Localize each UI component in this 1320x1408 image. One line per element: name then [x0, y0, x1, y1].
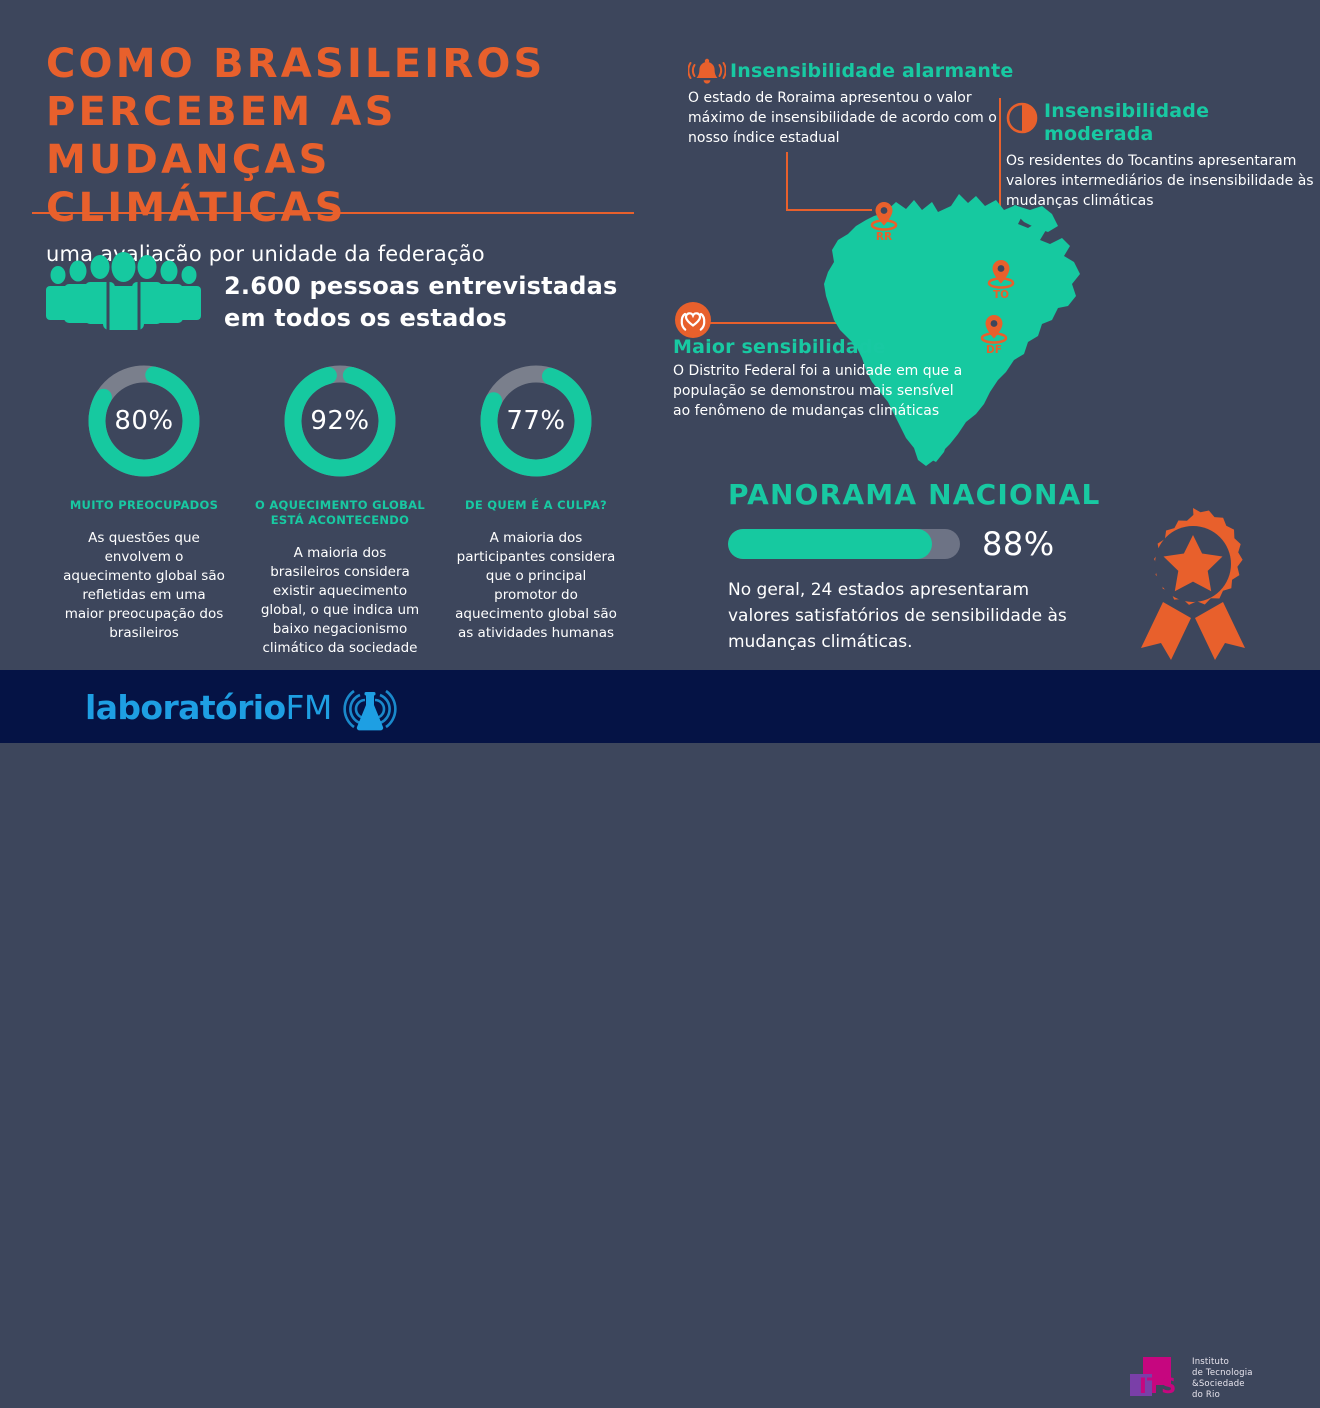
donut-chart-92: 92%	[281, 362, 399, 480]
sample-size-text: 2.600 pessoas entrevistadas em todos os …	[224, 270, 624, 334]
header-block: COMO BRASILEIROS PERCEBEM AS MUDANÇAS CL…	[46, 40, 646, 266]
donut-card-2: 92% O AQUECIMENTO GLOBAL ESTÁ ACONTECEND…	[242, 362, 438, 658]
map-marker-rr[interactable]: RR	[866, 200, 902, 242]
its-rio-logo[interactable]: ITS Instituto de Tecnologia &Sociedade d…	[1128, 1354, 1253, 1404]
panorama-nacional-block: PANORAMA NACIONAL 88% No geral, 24 estad…	[728, 478, 1128, 655]
svg-text:ITS: ITS	[1139, 1374, 1176, 1398]
page-title: COMO BRASILEIROS PERCEBEM AS MUDANÇAS CL…	[46, 40, 646, 232]
callout-insensibilidade-moderada: Insensibilidade moderada Os residentes d…	[1006, 100, 1318, 211]
award-rosette-icon	[1113, 502, 1273, 660]
logo-fm-suffix: FM	[286, 688, 332, 727]
callout-body-moderate: Os residentes do Tocantins apresentaram …	[1006, 151, 1318, 211]
progress-bar-value: 88%	[982, 525, 1055, 563]
donut-chart-80: 80%	[85, 362, 203, 480]
donut-title-3: DE QUEM É A CULPA?	[449, 498, 624, 513]
its-logo-icon: ITS	[1128, 1354, 1183, 1404]
callout-maior-sensibilidade: Maior sensibilidade O Distrito Federal f…	[673, 300, 963, 421]
progress-bar-track	[728, 529, 960, 559]
footer-bar: laboratórioFM	[0, 670, 1320, 743]
callout-body-sensitive: O Distrito Federal foi a unidade em que …	[673, 361, 963, 421]
donut-chart-77: 77%	[477, 362, 595, 480]
progress-bar-fill	[728, 529, 932, 559]
donut-chart-row: 80% MUITO PREOCUPADOS As questões que en…	[46, 362, 646, 658]
half-circle-icon	[1006, 102, 1038, 134]
sample-size-block: 2.600 pessoas entrevistadas em todos os …	[46, 250, 646, 350]
donut-value-3: 77%	[477, 362, 595, 480]
panorama-description: No geral, 24 estados apresentaram valore…	[728, 577, 1083, 655]
hands-heart-icon	[673, 300, 713, 340]
donut-title-1: MUITO PREOCUPADOS	[57, 498, 232, 513]
donut-card-1: 80% MUITO PREOCUPADOS As questões que en…	[46, 362, 242, 658]
donut-description-3: A maioria dos participantes considera qu…	[454, 529, 619, 643]
donut-title-2: O AQUECIMENTO GLOBAL ESTÁ ACONTECENDO	[253, 498, 428, 528]
callout-body-alarm: O estado de Roraima apresentou o valor m…	[688, 88, 1018, 148]
map-marker-label-df: DF	[986, 344, 1002, 355]
map-marker-to[interactable]: TO	[983, 258, 1019, 300]
logo-main-word: laboratório	[85, 688, 286, 727]
laboratorio-fm-logo-text: laboratórioFM	[85, 688, 332, 727]
donut-value-2: 92%	[281, 362, 399, 480]
flask-signal-icon	[340, 681, 400, 733]
header-divider	[32, 212, 634, 214]
map-marker-label-rr: RR	[876, 231, 892, 242]
panorama-bar-row: 88%	[728, 525, 1128, 563]
laboratorio-fm-logo[interactable]: laboratórioFM	[85, 684, 400, 730]
callout-title-sensitive: Maior sensibilidade	[673, 336, 963, 359]
connector-line-rr-vertical	[786, 152, 788, 210]
callout-title-moderate: Insensibilidade moderada	[1044, 100, 1318, 146]
callout-title-alarm: Insensibilidade alarmante	[730, 60, 1018, 83]
donut-value-1: 80%	[85, 362, 203, 480]
callout-insensibilidade-alarmante: Insensibilidade alarmante O estado de Ro…	[688, 60, 1018, 148]
alarm-bell-icon	[688, 58, 726, 90]
map-marker-df[interactable]: DF	[976, 313, 1012, 355]
donut-description-1: As questões que envolvem o aquecimento g…	[62, 529, 227, 643]
donut-card-3: 77% DE QUEM É A CULPA? A maioria dos par…	[438, 362, 634, 658]
map-marker-label-to: TO	[993, 289, 1009, 300]
people-group-icon	[46, 250, 201, 330]
its-logo-text: Instituto de Tecnologia &Sociedade do Ri…	[1192, 1357, 1253, 1401]
donut-description-2: A maioria dos brasileiros considera exis…	[258, 544, 423, 658]
panorama-title: PANORAMA NACIONAL	[728, 478, 1128, 511]
infographic-canvas: COMO BRASILEIROS PERCEBEM AS MUDANÇAS CL…	[0, 0, 1320, 743]
map-section: RR TO DF	[648, 0, 1320, 470]
